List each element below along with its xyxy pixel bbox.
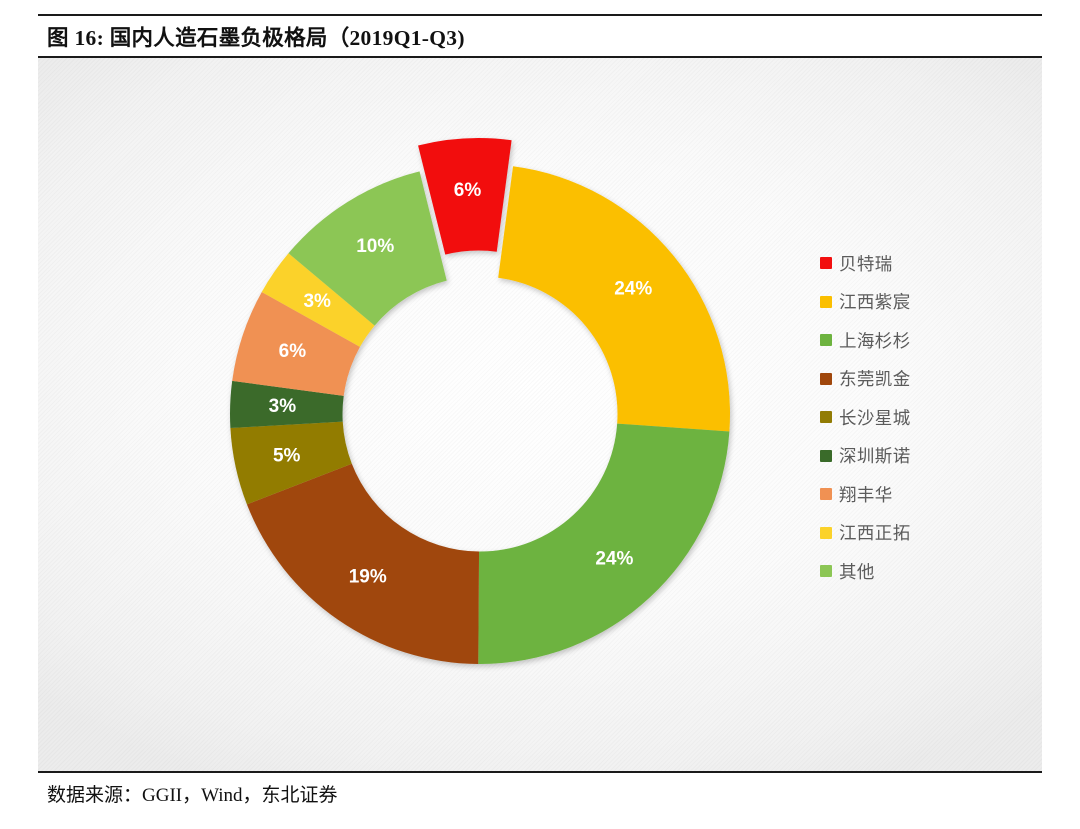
legend-color-swatch-icon [820, 565, 832, 577]
page-title: 图 16: 国内人造石墨负极格局（2019Q1-Q3) [38, 21, 465, 52]
legend-color-swatch-icon [820, 373, 832, 385]
legend-item-label: 翔丰华 [839, 482, 893, 507]
legend-item[interactable]: 翔丰华 [820, 484, 970, 504]
donut-slice-label: 3% [269, 396, 297, 417]
legend-color-swatch-icon [820, 257, 832, 269]
legend-item[interactable]: 江西正拓 [820, 523, 970, 543]
chart-legend: 贝特瑞江西紫宸上海杉杉东莞凯金长沙星城深圳斯诺翔丰华江西正拓其他 [820, 253, 970, 581]
donut-chart-svg: 6%24%24%19%5%3%6%3%10% [160, 94, 800, 734]
legend-item[interactable]: 上海杉杉 [820, 330, 970, 350]
legend-color-swatch-icon [820, 450, 832, 462]
donut-slice-label: 24% [595, 549, 633, 570]
legend-item-label: 其他 [839, 559, 875, 584]
legend-item-label: 贝特瑞 [839, 251, 893, 276]
legend-item-label: 江西正拓 [839, 520, 911, 545]
legend-item[interactable]: 东莞凯金 [820, 369, 970, 389]
legend-item-label: 东莞凯金 [839, 366, 911, 391]
legend-item-label: 上海杉杉 [839, 328, 911, 353]
donut-slice[interactable] [247, 464, 479, 664]
donut-slice[interactable] [478, 424, 729, 664]
legend-color-swatch-icon [820, 411, 832, 423]
donut-slice-label: 10% [356, 236, 394, 257]
legend-item-label: 深圳斯诺 [839, 443, 911, 468]
donut-slice-label: 6% [279, 341, 307, 362]
figure-title-bar: 图 16: 国内人造石墨负极格局（2019Q1-Q3) [38, 14, 1042, 58]
legend-color-swatch-icon [820, 527, 832, 539]
legend-item[interactable]: 贝特瑞 [820, 253, 970, 273]
source-note: 数据来源：GGII，Wind，东北证券 [38, 780, 338, 807]
chart-plot-area: 6%24%24%19%5%3%6%3%10% 贝特瑞江西紫宸上海杉杉东莞凯金长沙… [38, 58, 1042, 771]
legend-color-swatch-icon [820, 488, 832, 500]
legend-item[interactable]: 江西紫宸 [820, 292, 970, 312]
donut-slice-label: 19% [349, 566, 387, 587]
legend-item[interactable]: 长沙星城 [820, 407, 970, 427]
figure-container: 图 16: 国内人造石墨负极格局（2019Q1-Q3) 6%24%24%19%5… [38, 14, 1042, 814]
figure-source-bar: 数据来源：GGII，Wind，东北证券 [38, 771, 1042, 814]
donut-slices [230, 138, 730, 664]
donut-slice-label: 6% [454, 180, 482, 201]
legend-color-swatch-icon [820, 334, 832, 346]
legend-item-label: 长沙星城 [839, 405, 911, 430]
donut-slice-label: 3% [303, 291, 331, 312]
donut-slice-label: 5% [273, 445, 301, 466]
legend-item[interactable]: 深圳斯诺 [820, 446, 970, 466]
legend-item-label: 江西紫宸 [839, 289, 911, 314]
donut-chart: 6%24%24%19%5%3%6%3%10% [160, 94, 800, 734]
donut-slice-label: 24% [614, 279, 652, 300]
legend-color-swatch-icon [820, 296, 832, 308]
legend-item[interactable]: 其他 [820, 561, 970, 581]
